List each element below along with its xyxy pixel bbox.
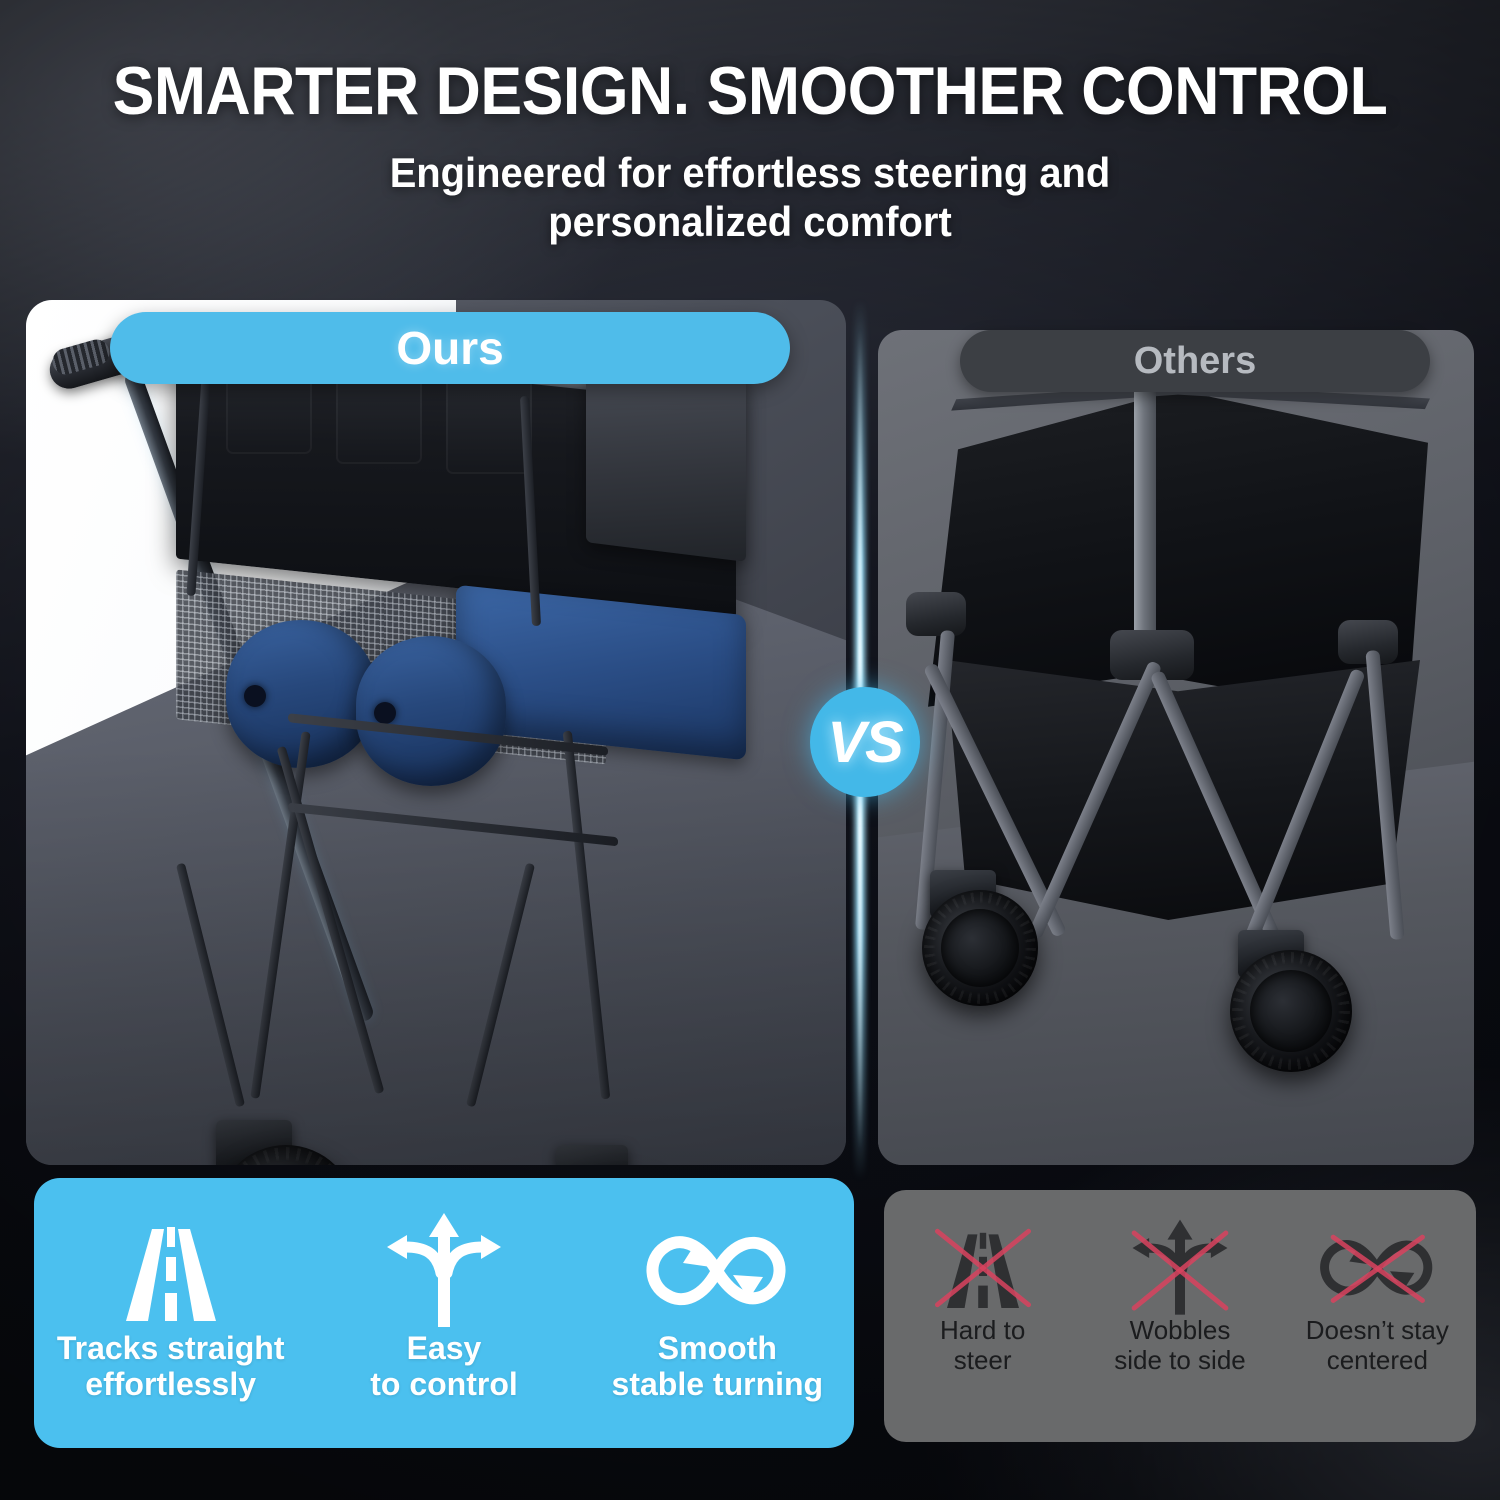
page-subtitle: Engineered for effortless steering and p… — [218, 148, 1282, 246]
feature-line-2: to control — [370, 1366, 518, 1402]
road-lanes-icon — [96, 1212, 246, 1330]
ours-feature-label: Tracks straight effortlessly — [57, 1330, 285, 1403]
wagon-caster-mount — [556, 1145, 628, 1165]
others-feature-panel: Hard to steer — [884, 1190, 1476, 1442]
road-lanes-crossed-icon — [923, 1220, 1043, 1316]
ours-feature-label: Easy to control — [370, 1330, 518, 1403]
feature-line-2: steer — [940, 1346, 1025, 1376]
others-front-wheel — [922, 890, 1038, 1006]
ours-label-text: Ours — [396, 321, 503, 375]
others-label-text: Others — [1134, 340, 1256, 383]
others-feature-item: Hard to steer — [884, 1190, 1081, 1442]
ours-feature-item: Tracks straight effortlessly — [34, 1178, 307, 1448]
feature-line-1: Easy — [370, 1330, 518, 1366]
others-product-photo — [878, 330, 1474, 1165]
wagon-frame-bar — [466, 863, 535, 1108]
feature-line-1: Smooth — [612, 1330, 824, 1366]
subtitle-line-2: personalized comfort — [218, 197, 1282, 246]
others-rear-wheel — [1230, 950, 1352, 1072]
others-feature-item: Doesn’t stay centered — [1279, 1190, 1476, 1442]
others-wagon-illustration — [878, 330, 1474, 1165]
feature-line-1: Doesn’t stay — [1306, 1316, 1449, 1346]
wagon-rolled-bag — [356, 636, 506, 786]
three-way-arrow-crossed-icon — [1125, 1220, 1235, 1316]
three-way-arrow-icon — [379, 1212, 509, 1330]
feature-line-2: centered — [1306, 1346, 1449, 1376]
subtitle-line-1: Engineered for effortless steering and — [218, 148, 1282, 197]
infinity-loop-crossed-icon — [1312, 1220, 1442, 1316]
vs-badge: VS — [810, 687, 920, 797]
page-title: SMARTER DESIGN. SMOOTHER CONTROL — [60, 52, 1440, 130]
ours-feature-item: Smooth stable turning — [581, 1178, 854, 1448]
feature-line-1: Hard to — [940, 1316, 1025, 1346]
infographic-canvas: SMARTER DESIGN. SMOOTHER CONTROL Enginee… — [0, 0, 1500, 1500]
ours-wagon-illustration: Stopany way — [26, 300, 846, 1165]
infinity-loop-icon — [637, 1212, 797, 1330]
feature-line-1: Wobbles — [1114, 1316, 1246, 1346]
feature-line-2: stable turning — [612, 1366, 824, 1402]
headline-block: SMARTER DESIGN. SMOOTHER CONTROL Enginee… — [0, 0, 1500, 246]
others-feature-label: Hard to steer — [940, 1316, 1025, 1375]
ours-label-badge: Ours — [110, 312, 790, 384]
ours-feature-item: Easy to control — [307, 1178, 580, 1448]
others-label-badge: Others — [960, 330, 1430, 392]
feature-line-1: Tracks straight — [57, 1330, 285, 1366]
wagon-frame-bar — [176, 863, 245, 1108]
others-frame-corner — [906, 592, 966, 636]
wagon-frame-bar — [563, 731, 611, 1100]
ours-feature-panel: Tracks straight effortlessly — [34, 1178, 854, 1448]
others-feature-item: Wobbles side to side — [1081, 1190, 1278, 1442]
ours-product-photo: Stopany way — [26, 300, 846, 1165]
others-feature-label: Doesn’t stay centered — [1306, 1316, 1449, 1375]
feature-line-2: side to side — [1114, 1346, 1246, 1376]
vs-badge-label: VS — [827, 709, 902, 776]
feature-line-2: effortlessly — [57, 1366, 285, 1402]
ours-feature-label: Smooth stable turning — [612, 1330, 824, 1403]
wagon-frame-bar — [277, 746, 385, 1095]
others-feature-label: Wobbles side to side — [1114, 1316, 1246, 1375]
wagon-frame-bar — [288, 803, 618, 847]
